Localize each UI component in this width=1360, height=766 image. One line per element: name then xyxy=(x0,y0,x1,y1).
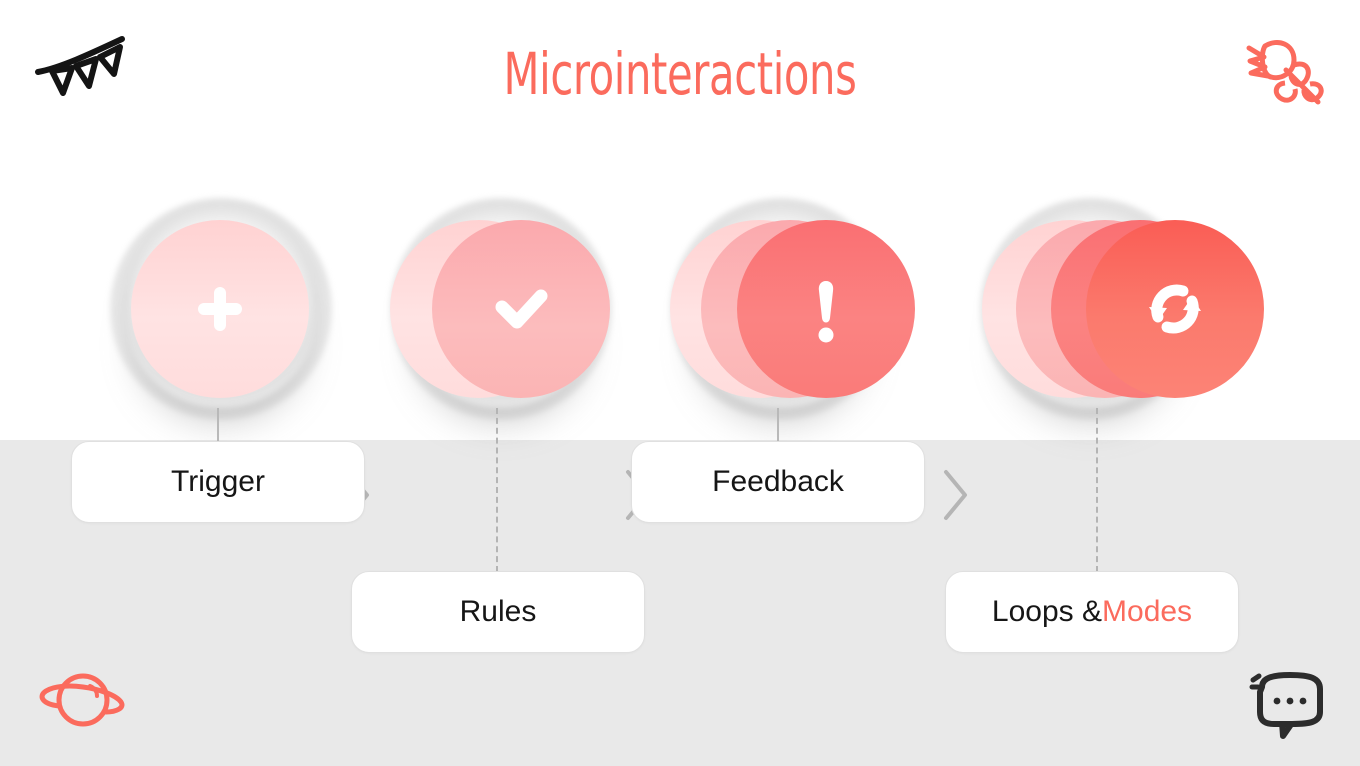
refresh-icon xyxy=(1086,220,1264,398)
label-card-accent-text: Modes xyxy=(1102,595,1192,629)
planet-icon xyxy=(36,665,128,735)
flow-node-trigger[interactable] xyxy=(100,190,340,430)
label-card-text: Rules xyxy=(460,595,537,629)
connector-rules xyxy=(496,408,498,572)
node-disc-3 xyxy=(737,220,915,398)
chat-bubble-icon xyxy=(1240,662,1332,740)
flow-diagram xyxy=(0,190,1360,430)
plus-icon xyxy=(131,220,309,398)
flow-node-loops-modes[interactable] xyxy=(970,190,1210,430)
connector-feedback xyxy=(777,408,779,444)
label-card-loops-modes[interactable]: Loops & Modes xyxy=(945,571,1239,653)
flower-icon xyxy=(1238,34,1328,108)
node-disc-2 xyxy=(432,220,610,398)
node-disc-1 xyxy=(131,220,309,398)
label-card-trigger[interactable]: Trigger xyxy=(71,441,365,523)
exclamation-icon xyxy=(737,220,915,398)
flow-node-rules[interactable] xyxy=(380,190,620,430)
connector-trigger xyxy=(217,408,219,444)
page-title: Microinteractions xyxy=(136,40,1224,108)
label-card-text: Feedback xyxy=(712,465,844,499)
bunting-icon xyxy=(34,34,130,106)
label-card-feedback[interactable]: Feedback xyxy=(631,441,925,523)
chevron-right-icon xyxy=(938,466,972,524)
label-card-text: Trigger xyxy=(171,465,265,499)
check-icon xyxy=(432,220,610,398)
node-disc-4 xyxy=(1086,220,1264,398)
label-card-rules[interactable]: Rules xyxy=(351,571,645,653)
label-card-text: Loops & xyxy=(992,595,1102,629)
slide-root: { "slide": { "title": "Microinteractions… xyxy=(0,0,1360,766)
flow-node-feedback[interactable] xyxy=(660,190,900,430)
connector-loops-modes xyxy=(1096,408,1098,572)
